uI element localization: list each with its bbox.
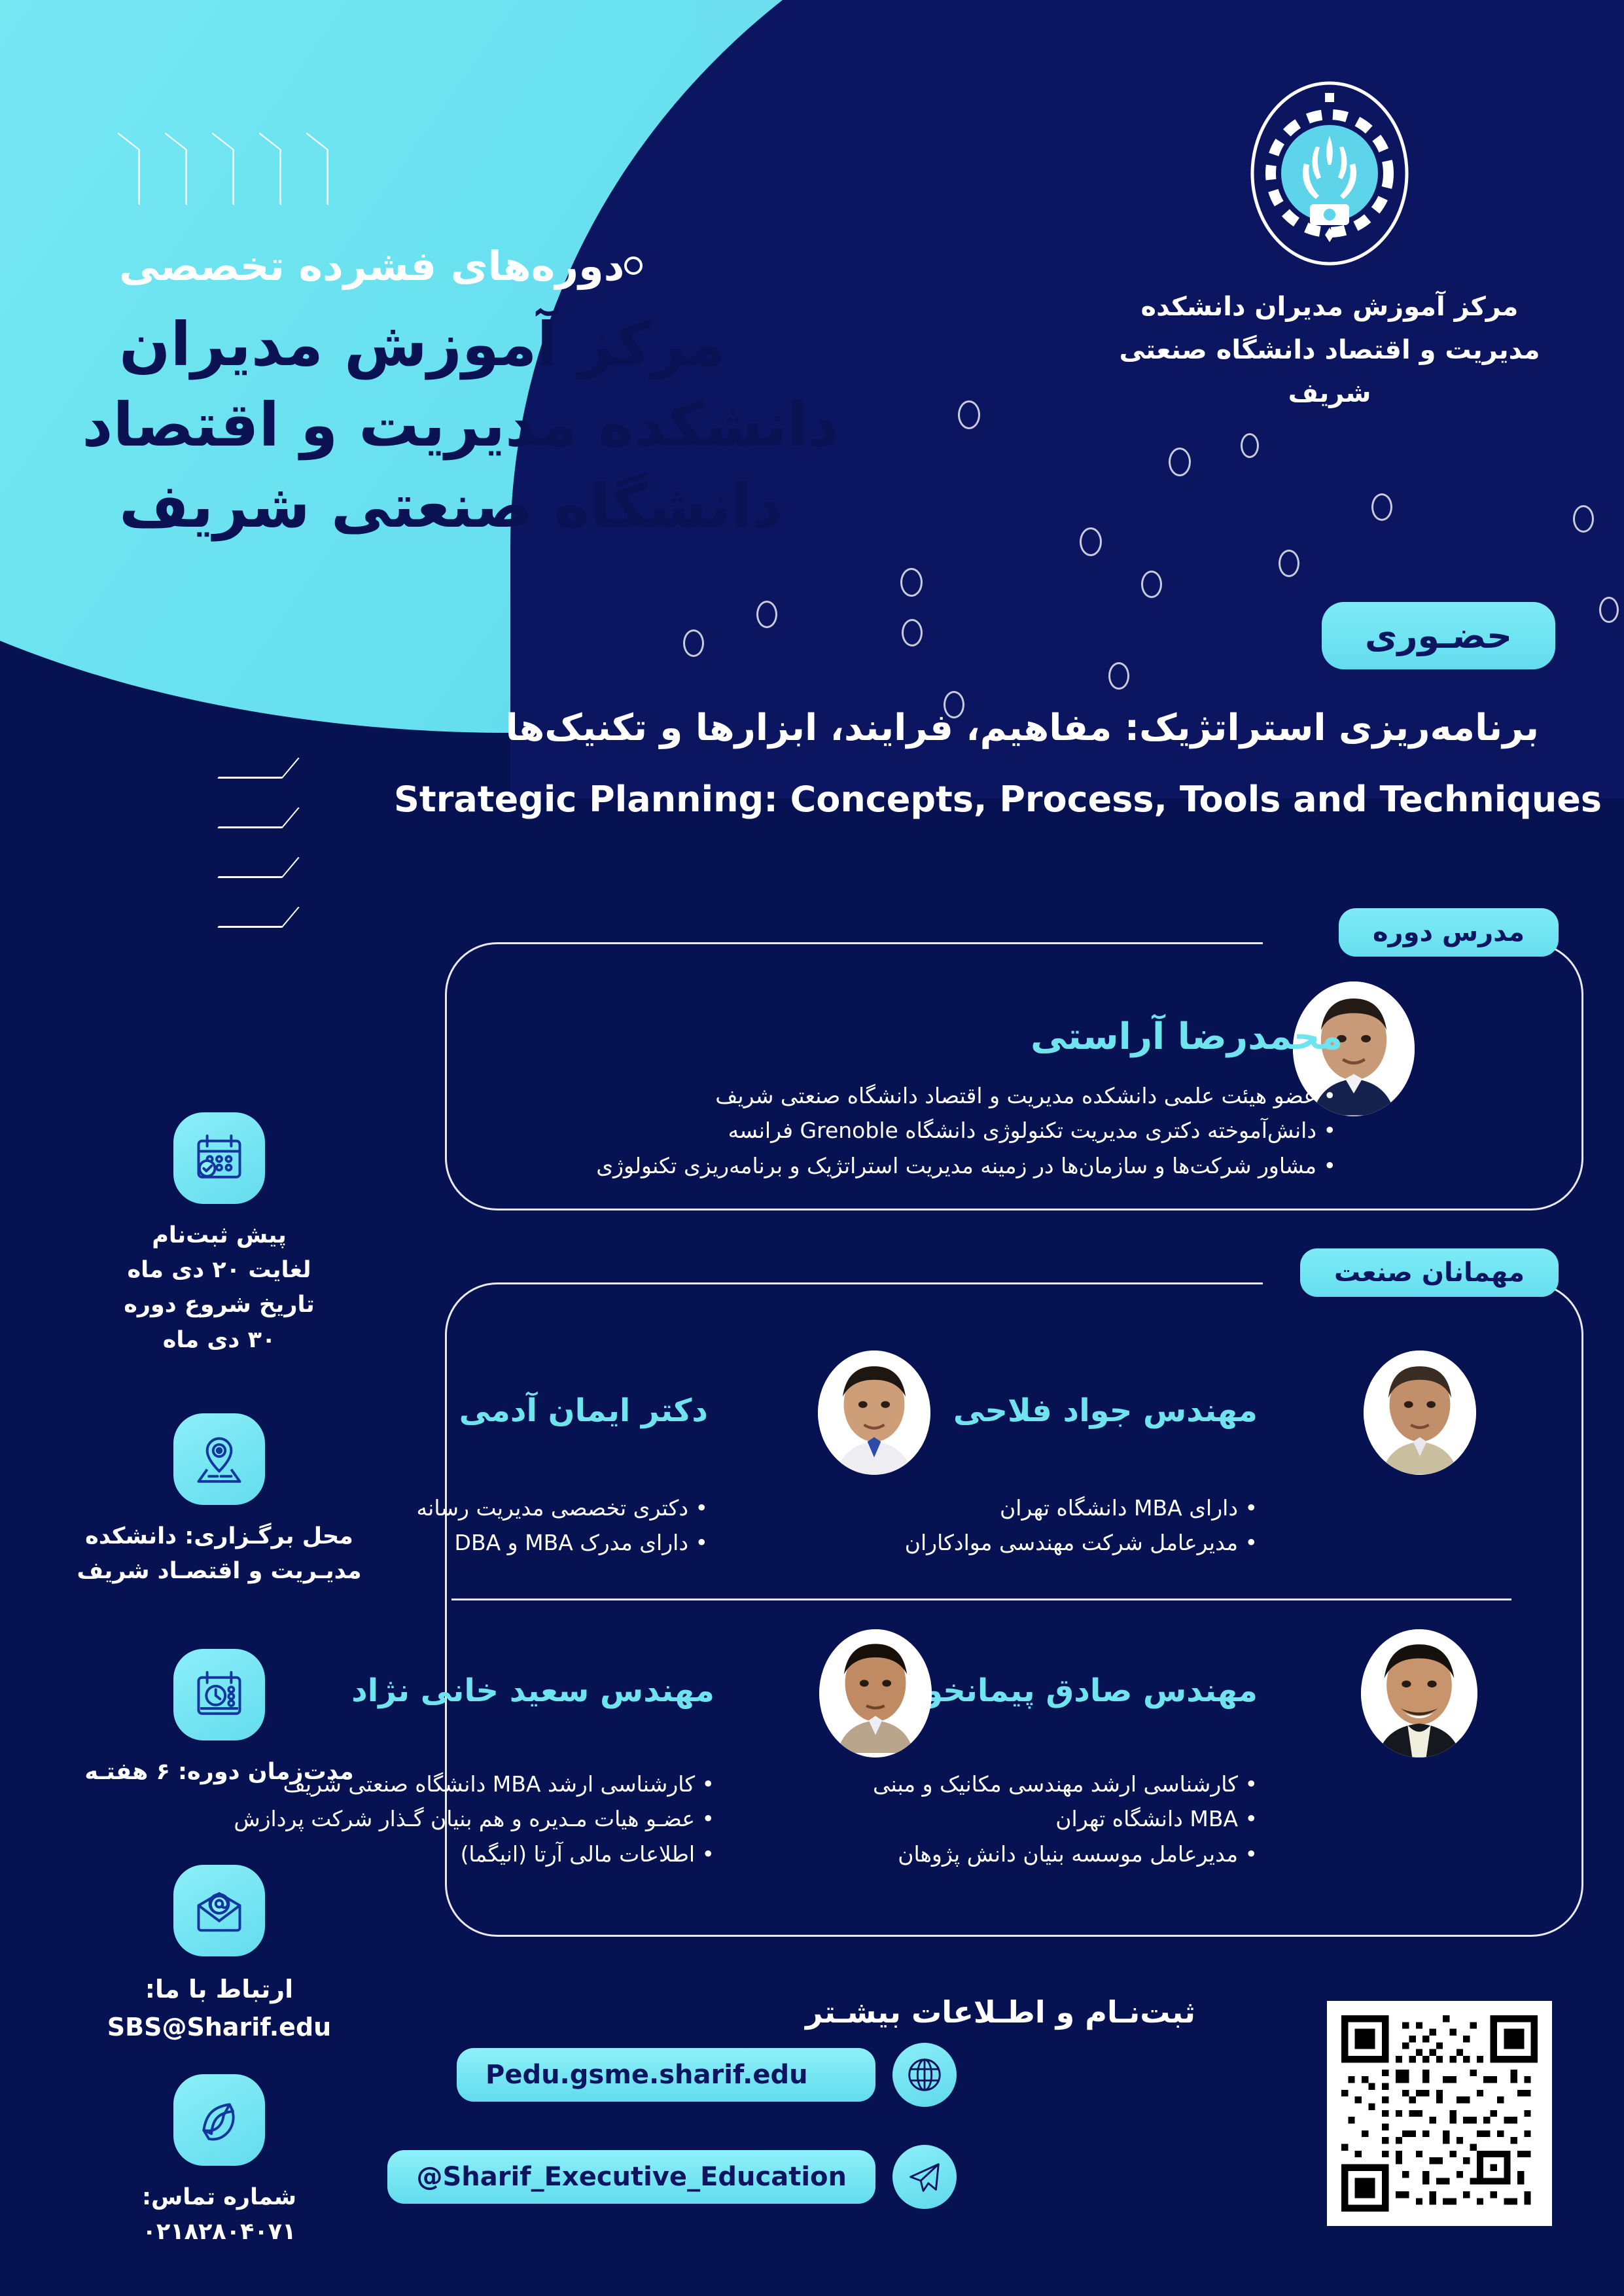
guest-bullet: عضـو هیات مـدیره و هم بنیان گـذار شرکت پ… — [126, 1801, 715, 1836]
chevron-down-icon — [217, 807, 300, 828]
attendance-badge: حضـوری — [1322, 602, 1555, 669]
guest-bullet: مدیرعامل موسسه بنیان دانش پژوهان — [656, 1837, 1258, 1871]
ring-icon — [624, 256, 643, 275]
website-pill[interactable]: Pedu.gsme.sharif.edu — [457, 2048, 875, 2102]
organization-name: مرکز آموزش مدیران دانشکده مدیریت و اقتصا… — [1101, 285, 1559, 415]
sidebar-line[interactable]: ارتباط با ما: SBS@Sharif.edu — [75, 1971, 363, 2047]
guest-bullet: دارای MBA دانشگاه تهران — [669, 1491, 1258, 1525]
decor-circle — [958, 400, 980, 429]
website-row[interactable]: Pedu.gsme.sharif.edu — [457, 2043, 957, 2107]
calendar-check-icon — [192, 1131, 247, 1186]
instructor-bullet: دانش‌آموخته دکتری مدیریت تکنولوژی دانشگا… — [328, 1113, 1336, 1148]
guests-section-tag: مهمانان صنعت — [1300, 1248, 1559, 1297]
registration-title: ثبت‌نـام و اطـلاعات بیشـتر — [805, 1994, 1195, 2030]
course-title-fa: برنامه‌ریزی استراتژیک: مفاهیم، فرایند، ا… — [506, 707, 1539, 749]
instructor-bullet: مشاور شرکت‌ها و سازمان‌ها در زمینه مدیری… — [328, 1148, 1336, 1183]
phone-icon — [192, 2093, 247, 2147]
chevron-down-icon — [217, 907, 300, 928]
qr-code-box[interactable] — [1327, 2001, 1552, 2226]
decor-circle — [1599, 597, 1619, 623]
title-block: دوره‌های فشرده تخصصی مرکز آموزش مدیران د… — [119, 242, 839, 546]
chevron-down-icon — [217, 758, 300, 779]
instructor-bullets: عضو هیئت علمی دانشکده مدیریت و اقتصاد دا… — [328, 1078, 1336, 1183]
decor-circle — [1108, 662, 1129, 690]
decor-circle — [1080, 527, 1102, 556]
eyebrow-text: دوره‌های فشرده تخصصی — [119, 242, 839, 290]
guest-bullet: دارای مدرک MBA و DBA — [145, 1525, 708, 1560]
sidebar-item-email[interactable]: ارتباط با ما: SBS@Sharif.edu — [75, 1865, 363, 2047]
guest-portrait-fallahi-icon — [1364, 1351, 1476, 1474]
chevron-down-group — [226, 758, 291, 928]
globe-icon-wrap — [892, 2043, 957, 2107]
chevron-right-icon — [165, 132, 187, 206]
eyebrow-label: دوره‌های فشرده تخصصی — [119, 242, 624, 290]
course-title-en: Strategic Planning: Concepts, Process, T… — [394, 779, 1539, 820]
sidebar-line[interactable]: شماره تماس: ۰۲۱۸۲۸۰۴۰۷۱ — [75, 2180, 363, 2250]
guest-avatar-3 — [1361, 1629, 1477, 1757]
sidebar-registration-text: پیش ثبت‌نام لغایت ۲۰ دی ماه تاریخ شروع د… — [75, 1218, 363, 1358]
telegram-send-icon-wrap — [892, 2145, 957, 2209]
sidebar-line: تاریخ شروع دوره — [75, 1288, 363, 1322]
guest-avatar-2 — [818, 1351, 930, 1475]
calendar-check-icon-wrap — [173, 1112, 265, 1204]
instructor-name: محمدرضا آراستی — [806, 1016, 1343, 1058]
decor-circle — [1371, 493, 1392, 521]
sidebar-item-registration: پیش ثبت‌نام لغایت ۲۰ دی ماه تاریخ شروع د… — [75, 1112, 363, 1358]
title-line-1: مرکز آموزش مدیران — [119, 304, 839, 385]
sidebar-item-phone[interactable]: شماره تماس: ۰۲۱۸۲۸۰۴۰۷۱ — [75, 2074, 363, 2250]
chevron-right-icon — [259, 132, 281, 206]
guest-bullets-1: دارای MBA دانشگاه تهران مدیرعامل شرکت مه… — [669, 1491, 1258, 1561]
guest-portrait-peymankhah-icon — [1361, 1629, 1477, 1757]
guest-bullet: MBA دانشگاه تهران — [656, 1801, 1258, 1836]
globe-icon — [904, 2055, 945, 2095]
telegram-row[interactable]: @Sharif_Executive_Education — [387, 2145, 957, 2209]
sidebar-phone-text: شماره تماس: ۰۲۱۸۲۸۰۴۰۷۱ — [75, 2180, 363, 2250]
guest-bullets-3: کارشناسی ارشد مهندسی مکانیک و مبنی MBA د… — [656, 1767, 1258, 1871]
email-at-icon-wrap — [173, 1865, 265, 1956]
guest-bullet: مدیرعامل شرکت مهندسی موادکاران — [669, 1525, 1258, 1560]
guest-avatar-1 — [1364, 1351, 1476, 1475]
guests-row-divider — [451, 1598, 1511, 1600]
decor-circle — [1279, 550, 1299, 577]
chevron-right-icon — [118, 132, 140, 206]
qr-code-icon — [1341, 2015, 1538, 2212]
decor-circle — [900, 568, 923, 597]
poster-root: مرکز آموزش مدیران دانشکده مدیریت و اقتصا… — [0, 0, 1624, 2296]
title-line-2: دانشکده مدیریت و اقتصاد — [119, 385, 839, 465]
guest-bullet: دکتری تخصصی مدیریت رسانه — [145, 1491, 708, 1525]
telegram-pill[interactable]: @Sharif_Executive_Education — [387, 2150, 875, 2204]
decor-circle — [1241, 433, 1259, 458]
sidebar-email-text: ارتباط با ما: SBS@Sharif.edu — [75, 1971, 363, 2047]
title-line-3: دانشگاه صنعتی شریف — [119, 466, 839, 546]
instructor-bullet: عضو هیئت علمی دانشکده مدیریت و اقتصاد دا… — [328, 1078, 1336, 1113]
guest-bullet: کارشناسی ارشد مهندسی مکانیک و مبنی — [656, 1767, 1258, 1801]
guest-name-2: دکتر ایمان آدمی — [250, 1392, 708, 1429]
sidebar-line: لغایت ۲۰ دی ماه — [75, 1253, 363, 1288]
chevron-right-icon — [306, 132, 328, 206]
decor-circle — [902, 619, 923, 646]
sidebar-line: پیش ثبت‌نام — [75, 1218, 363, 1253]
decor-circle — [756, 601, 777, 628]
organization-header: مرکز آموزش مدیران دانشکده مدیریت و اقتصا… — [1101, 79, 1559, 415]
sharif-university-logo-icon — [1248, 79, 1411, 268]
decor-circle — [1141, 571, 1162, 598]
guest-bullet: کارشناسی ارشد MBA دانشگاه صنعتی شریف — [126, 1767, 715, 1801]
sidebar-line: ۳۰ دی ماه — [75, 1323, 363, 1358]
guest-name-4: مهندس سعید خانی نژاد — [217, 1672, 715, 1709]
decor-circle — [1573, 505, 1594, 533]
guest-portrait-khaninejad-icon — [819, 1629, 932, 1753]
instructor-section-tag: مدرس دوره — [1339, 908, 1559, 957]
guest-bullets-2: دکتری تخصصی مدیریت رسانه دارای مدرک MBA … — [145, 1491, 708, 1561]
chevron-right-group — [118, 141, 328, 197]
decor-circle — [1169, 448, 1191, 476]
logo-wrap — [1101, 79, 1559, 268]
phone-icon-wrap — [173, 2074, 265, 2166]
email-at-icon — [192, 1883, 247, 1938]
decor-circle — [683, 629, 704, 657]
chevron-right-icon — [212, 132, 234, 206]
guest-portrait-adami-icon — [818, 1351, 930, 1474]
guest-bullets-4: کارشناسی ارشد MBA دانشگاه صنعتی شریف عضـ… — [126, 1767, 715, 1871]
guest-avatar-4 — [819, 1629, 932, 1757]
map-pin-icon — [192, 1432, 247, 1487]
guest-bullet-cont: اطلاعات مالی آرتا (انیگما) — [126, 1837, 715, 1871]
telegram-send-icon — [904, 2157, 945, 2197]
chevron-down-icon — [217, 857, 300, 878]
